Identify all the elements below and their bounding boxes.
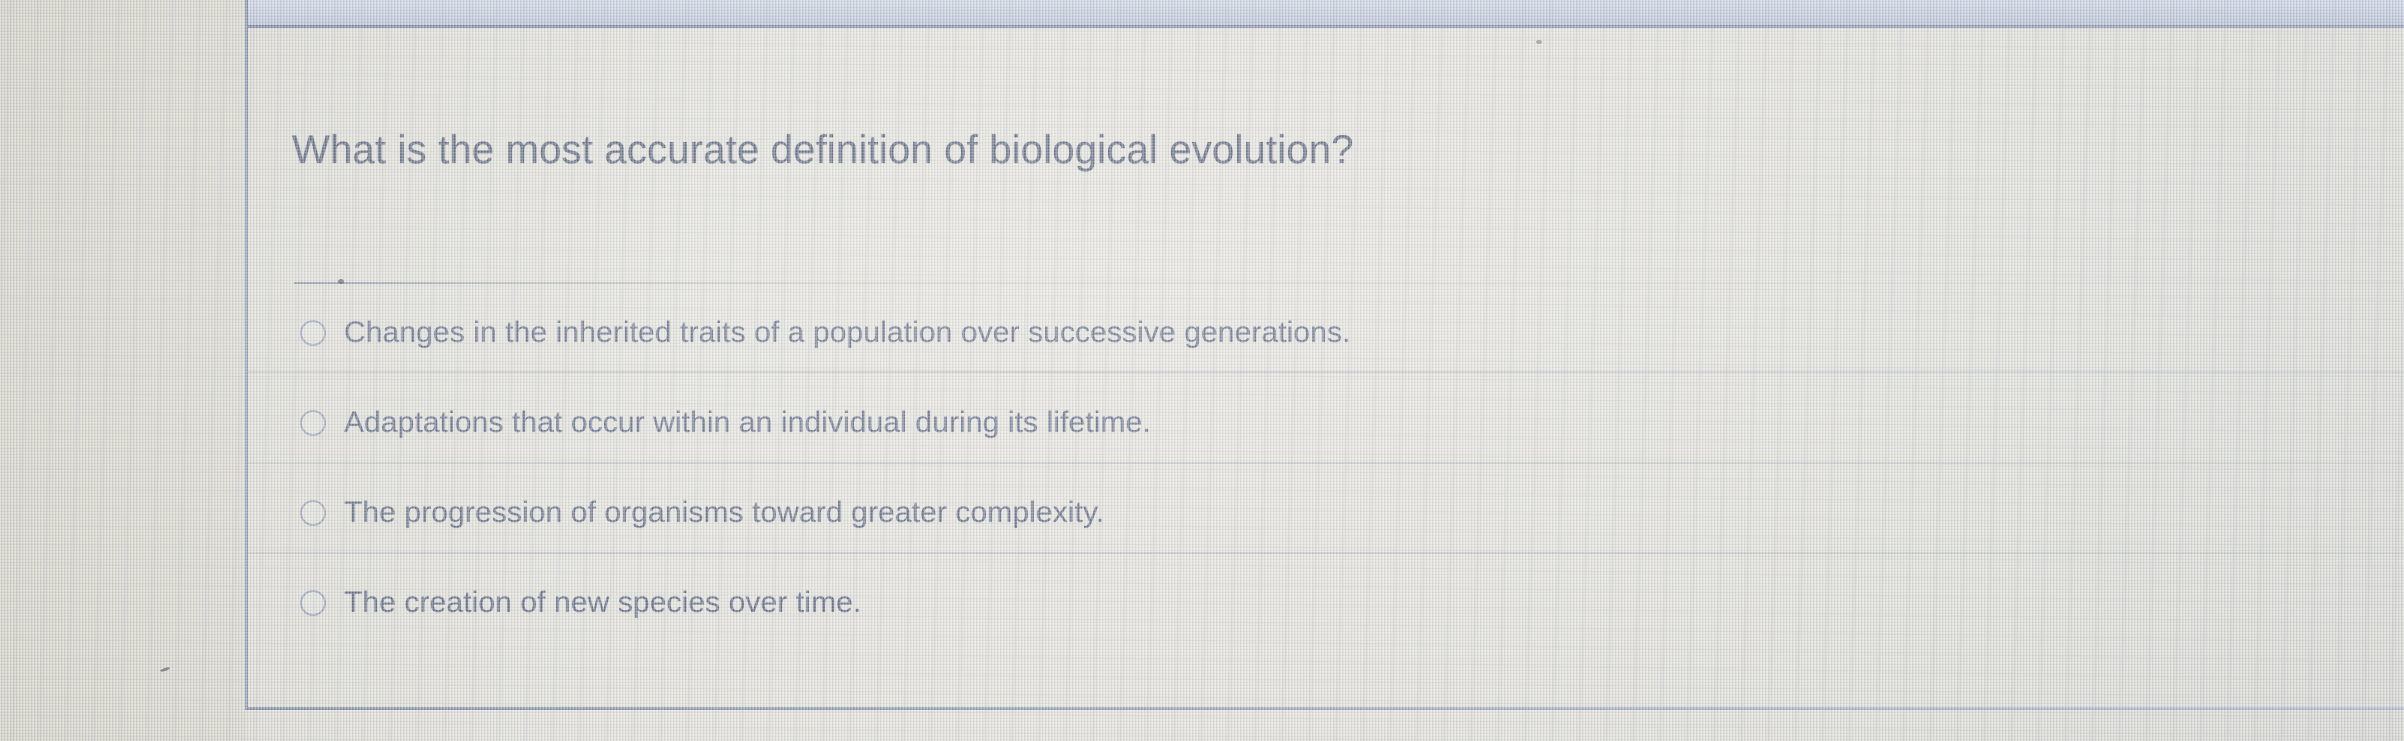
left-gutter [0, 0, 246, 741]
option-label-4: The creation of new species over time. [344, 586, 861, 620]
option-row-1[interactable]: Changes in the inherited traits of a pop… [300, 311, 1351, 355]
option-label-1: Changes in the inherited traits of a pop… [344, 316, 1351, 350]
radio-unchecked-icon[interactable] [300, 500, 326, 526]
page-surface [0, 0, 2404, 741]
option-row-2[interactable]: Adaptations that occur within an individ… [300, 401, 1151, 445]
browser-chrome-rule [246, 25, 2404, 28]
option-label-2: Adaptations that occur within an individ… [344, 406, 1151, 440]
monitor-photo-screen: What is the most accurate definition of … [0, 0, 2404, 741]
option-label-3: The progression of organisms toward grea… [344, 496, 1104, 530]
quiz-card-left-border [245, 0, 248, 710]
quiz-card-bottom-border [245, 707, 2404, 710]
option-row-3[interactable]: The progression of organisms toward grea… [300, 491, 1104, 535]
radio-unchecked-icon[interactable] [300, 590, 326, 616]
option-row-4[interactable]: The creation of new species over time. [300, 581, 861, 625]
radio-unchecked-icon[interactable] [300, 320, 326, 346]
question-text: What is the most accurate definition of … [292, 128, 1354, 173]
radio-unchecked-icon[interactable] [300, 410, 326, 436]
browser-chrome-band [246, 0, 2404, 26]
